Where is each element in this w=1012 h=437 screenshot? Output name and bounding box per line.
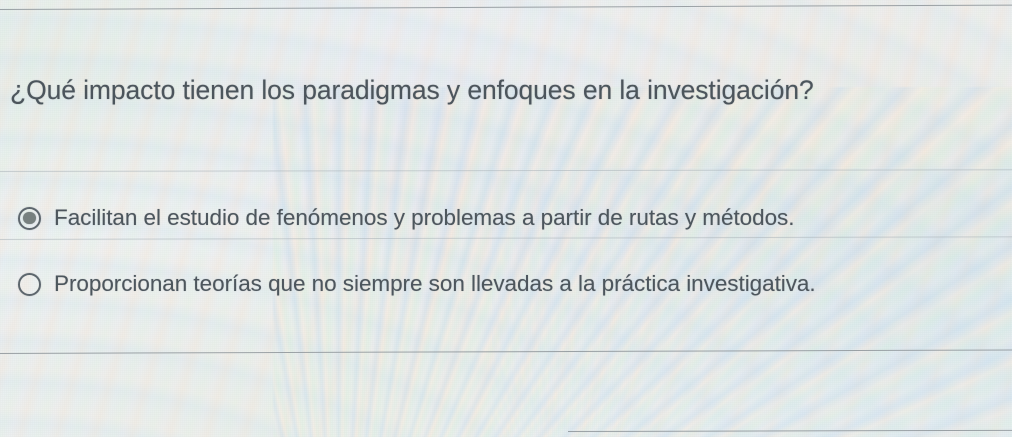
divider-bottom-partial [568,430,1012,432]
divider-options-bottom [0,349,1012,354]
divider-top [0,5,1012,10]
quiz-screen-photo: ¿Qué impacto tienen los paradigmas y enf… [0,0,1012,437]
answer-option-1-label: Proporcionan teorías que no siempre son … [54,269,816,299]
divider-question-bottom [0,169,1012,172]
answer-option-1[interactable]: Proporcionan teorías que no siempre son … [18,264,1003,304]
answer-option-0-label: Facilitan el estudio de fenómenos y prob… [54,203,794,233]
quiz-content: ¿Qué impacto tienen los paradigmas y enf… [0,0,1012,437]
radio-selected-icon[interactable] [18,207,41,230]
question-text: ¿Qué impacto tienen los paradigmas y enf… [10,73,990,107]
radio-unselected-icon[interactable] [18,273,41,296]
answer-option-0[interactable]: Facilitan el estudio de fenómenos y prob… [18,198,1003,238]
